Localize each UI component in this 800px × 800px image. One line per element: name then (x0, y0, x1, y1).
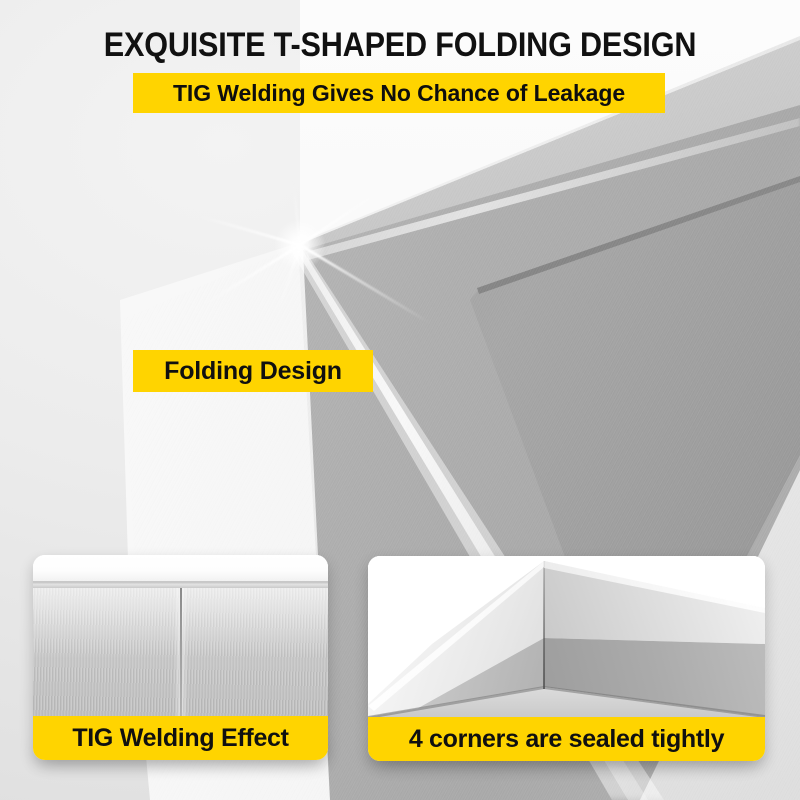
folding-design-callout: Folding Design (133, 350, 373, 392)
subtitle-banner-label: TIG Welding Gives No Chance of Leakage (173, 80, 625, 107)
weld-seam-line (180, 588, 182, 716)
subtitle-banner: TIG Welding Gives No Chance of Leakage (133, 73, 665, 113)
folding-design-callout-label: Folding Design (164, 357, 342, 386)
page-title: EXQUISITE T-SHAPED FOLDING DESIGN (40, 26, 760, 65)
inset-card-caption: TIG Welding Effect (33, 716, 328, 760)
product-feature-image: EXQUISITE T-SHAPED FOLDING DESIGN TIG We… (0, 0, 800, 800)
inset-card-tig-welding-effect: TIG Welding Effect (33, 555, 328, 760)
inset-card-caption: 4 corners are sealed tightly (368, 717, 765, 761)
inset-card-four-corners-sealed: 4 corners are sealed tightly (368, 556, 765, 761)
basin-inner-corner-photo (368, 556, 765, 717)
inset-card-caption-label: 4 corners are sealed tightly (409, 725, 724, 754)
weld-panel-top-edge (33, 555, 328, 581)
corner-vertical-weld-line (543, 561, 545, 689)
brushed-steel-weld-seam-photo (33, 555, 328, 716)
inset-card-caption-label: TIG Welding Effect (72, 724, 288, 753)
